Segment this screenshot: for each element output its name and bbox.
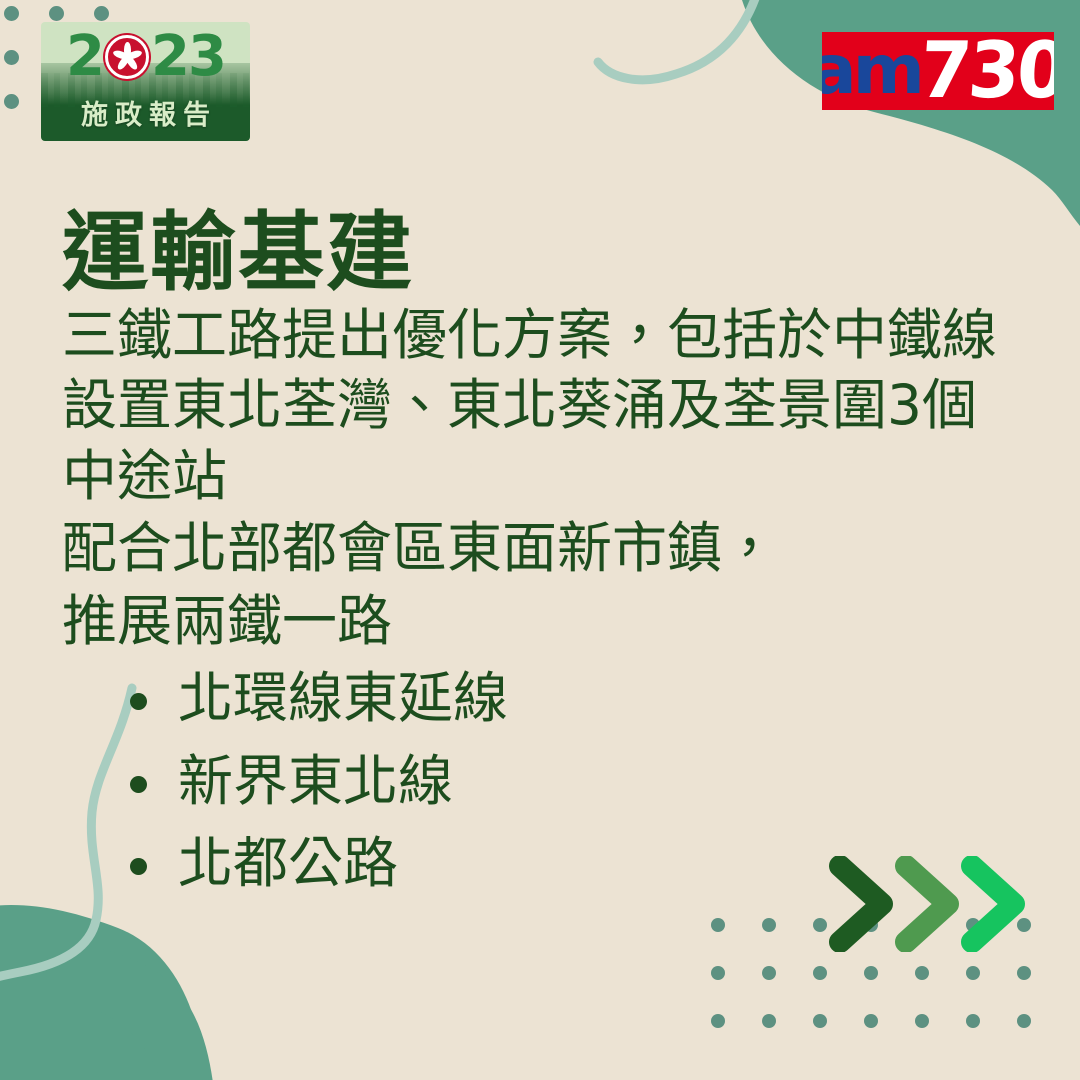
decor-dot xyxy=(813,1014,827,1028)
decor-dot xyxy=(711,1014,725,1028)
decor-dot xyxy=(915,1014,929,1028)
am730-logo: am 730 xyxy=(822,32,1054,110)
decor-dot xyxy=(864,966,878,980)
body-paragraph: 三鐵工路提出優化方案，包括於中鐵線設置東北荃灣、東北葵涌及荃景圍3個中途站 xyxy=(62,300,997,511)
decor-dot xyxy=(711,966,725,980)
decor-dot xyxy=(762,966,776,980)
curve-line-top xyxy=(598,0,758,80)
year-digits-23: 23 xyxy=(151,29,225,85)
blob-bottom-left-shape xyxy=(0,905,210,1080)
chevron-right-icon-1 xyxy=(824,856,898,952)
am730-logo-730: 730 xyxy=(917,39,1054,103)
decor-dot xyxy=(4,50,19,65)
decor-dot xyxy=(762,918,776,932)
poster-canvas: 2 23 施政報告 am 730 運輸基建 三鐵工路提出優化方案，包括於中鐵線設… xyxy=(0,0,1080,1080)
blob-bottom-left-upper xyxy=(0,942,214,1080)
decor-dot xyxy=(813,966,827,980)
hong-kong-bauhinia-emblem-icon xyxy=(105,35,149,79)
year-digit-2: 2 xyxy=(66,29,103,85)
decor-dot xyxy=(1017,966,1031,980)
policy-address-logo: 2 23 施政報告 xyxy=(41,22,250,141)
policy-logo-year: 2 23 xyxy=(41,24,250,90)
chevron-right-icon-2 xyxy=(890,856,964,952)
body-paragraph: 配合北部都會區東面新市鎮， xyxy=(62,513,997,583)
decor-dot xyxy=(966,966,980,980)
list-item: 北環線東延線 xyxy=(130,662,997,735)
decor-dot xyxy=(915,966,929,980)
chevron-right-icon-3 xyxy=(956,856,1030,952)
decor-dot xyxy=(4,6,19,21)
body-paragraph: 推展兩鐵一路 xyxy=(62,586,997,656)
triple-chevron-right-icon xyxy=(824,856,1036,952)
page-title: 運輸基建 xyxy=(62,210,414,298)
decor-dot xyxy=(711,918,725,932)
decor-dot xyxy=(49,6,64,21)
decor-dot xyxy=(966,1014,980,1028)
decor-dot xyxy=(1017,1014,1031,1028)
am730-logo-am: am xyxy=(822,43,921,99)
decor-dot xyxy=(4,94,19,109)
decor-dot xyxy=(762,1014,776,1028)
blob-bottom-left-lobe xyxy=(0,999,166,1080)
decor-dot xyxy=(94,6,109,21)
body-content: 三鐵工路提出優化方案，包括於中鐵線設置東北荃灣、東北葵涌及荃景圍3個中途站 配合… xyxy=(62,300,997,910)
list-item: 新界東北線 xyxy=(130,745,997,818)
policy-logo-subtitle: 施政報告 xyxy=(41,93,250,132)
decor-dot xyxy=(864,1014,878,1028)
